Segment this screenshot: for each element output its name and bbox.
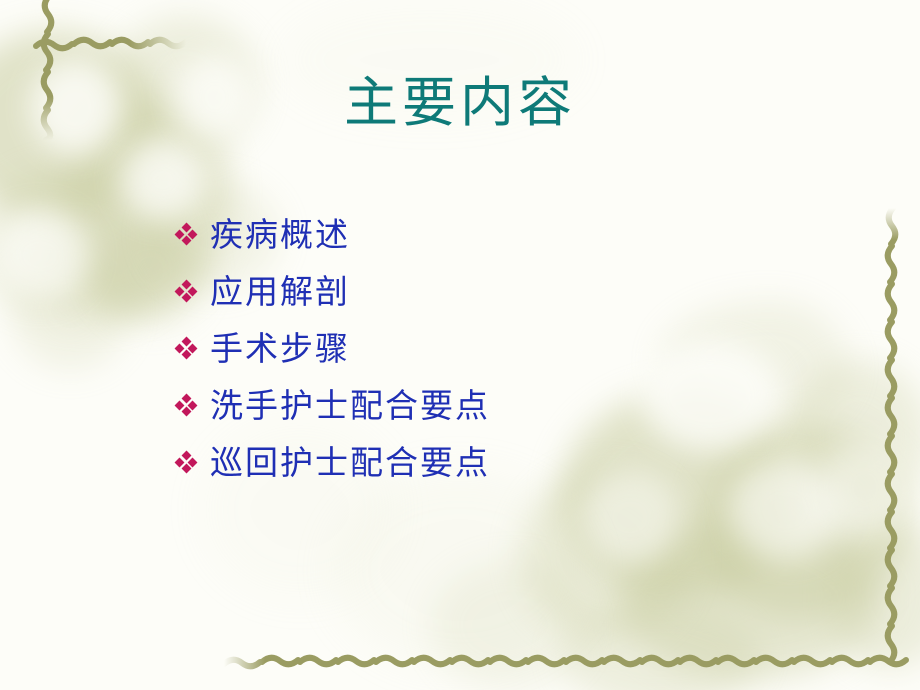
watermark-shape	[430, 560, 590, 690]
right-vertical-wavy-line-icon	[880, 206, 906, 676]
list-item[interactable]: 洗手护士配合要点	[176, 377, 816, 434]
diamond-cluster-bullet-icon	[176, 339, 196, 359]
diamond-cluster-bullet-icon	[176, 225, 196, 245]
list-item-label: 疾病概述	[210, 216, 350, 254]
watermark-shape	[560, 600, 760, 690]
diamond-cluster-bullet-icon	[176, 453, 196, 473]
slide-title: 主要内容	[0, 58, 920, 137]
watermark-shape	[10, 250, 130, 370]
watermark-highlight	[820, 440, 910, 535]
list-item[interactable]: 应用解剖	[176, 263, 816, 320]
watermark-shape	[330, 470, 590, 670]
diamond-cluster-bullet-icon	[176, 396, 196, 416]
presentation-slide: 主要内容 疾病概述 应用解剖 手术步骤 洗手护士配合要点	[0, 0, 920, 690]
top-left-horizontal-wavy-line-icon	[34, 32, 204, 58]
bullet-list: 疾病概述 应用解剖 手术步骤 洗手护士配合要点 巡回护士配合要点	[176, 206, 816, 491]
watermark-shape	[520, 470, 690, 640]
watermark-shape	[620, 520, 880, 680]
watermark-highlight	[0, 210, 90, 300]
watermark-shape	[0, 170, 180, 320]
list-item-label: 洗手护士配合要点	[210, 387, 490, 425]
bottom-horizontal-wavy-line-icon	[222, 650, 920, 676]
list-item-label: 应用解剖	[210, 273, 350, 311]
watermark-shape	[830, 520, 920, 670]
list-item[interactable]: 疾病概述	[176, 206, 816, 263]
list-item[interactable]: 手术步骤	[176, 320, 816, 377]
list-item-label: 手术步骤	[210, 330, 350, 368]
diamond-cluster-bullet-icon	[176, 282, 196, 302]
list-item-label: 巡回护士配合要点	[210, 444, 490, 482]
list-item[interactable]: 巡回护士配合要点	[176, 434, 816, 491]
